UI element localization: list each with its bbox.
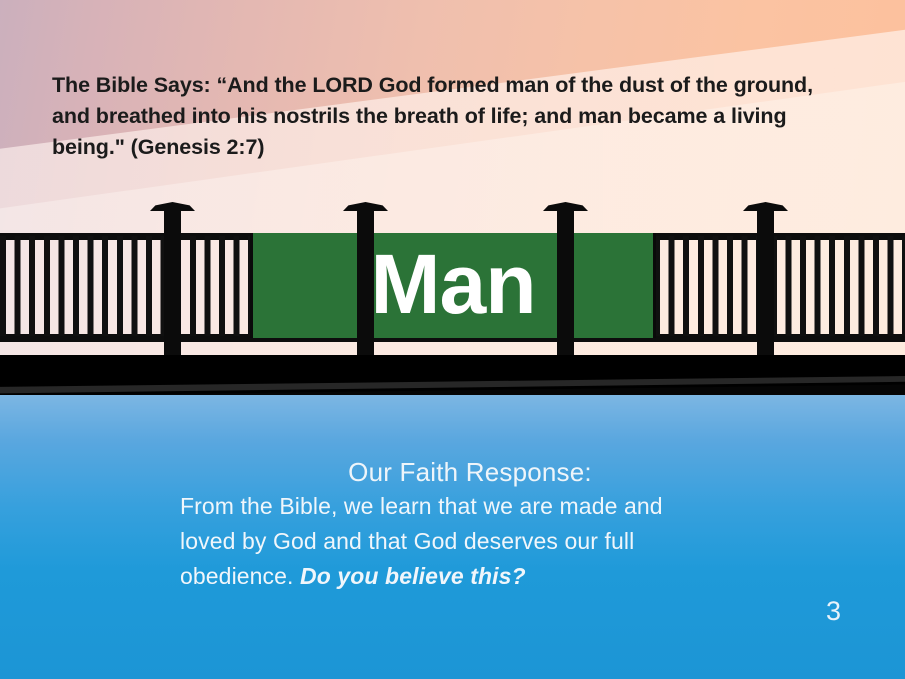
slide-canvas: The Bible Says: “And the LORD God formed… bbox=[0, 0, 905, 679]
faith-response-line-2: loved by God and that God deserves our f… bbox=[180, 524, 770, 559]
railing-post-cap-4 bbox=[743, 202, 788, 211]
faith-response-question: Do you believe this? bbox=[300, 563, 526, 589]
railing-balusters-left bbox=[0, 236, 252, 336]
railing-balusters-right bbox=[654, 236, 905, 336]
scripture-quote-line-1: “And the LORD God formed man of the dust… bbox=[211, 73, 690, 97]
scripture-text-block: The Bible Says: “And the LORD God formed… bbox=[52, 70, 842, 163]
bridge-railing: Man bbox=[0, 190, 905, 380]
highway-sign: Man bbox=[250, 233, 656, 338]
railing-post-1 bbox=[164, 204, 181, 376]
railing-post-cap-3 bbox=[543, 202, 588, 211]
faith-response-line-3-plain: obedience. bbox=[180, 563, 300, 589]
railing-post-4 bbox=[757, 204, 774, 376]
highway-sign-label: Man bbox=[371, 242, 536, 326]
page-number: 3 bbox=[826, 598, 841, 625]
railing-post-cap-2 bbox=[343, 202, 388, 211]
railing-post-3 bbox=[557, 204, 574, 376]
faith-response-line-3: obedience. Do you believe this? bbox=[180, 559, 770, 594]
faith-response-line-1: From the Bible, we learn that we are mad… bbox=[180, 489, 770, 524]
scripture-lead-label: The Bible Says: bbox=[52, 73, 211, 97]
faith-response-body: From the Bible, we learn that we are mad… bbox=[170, 489, 770, 594]
railing-post-cap-1 bbox=[150, 202, 195, 211]
faith-response-title: Our Faith Response: bbox=[170, 455, 770, 489]
railing-post-2 bbox=[357, 204, 374, 376]
faith-response-block: Our Faith Response: From the Bible, we l… bbox=[170, 455, 770, 594]
